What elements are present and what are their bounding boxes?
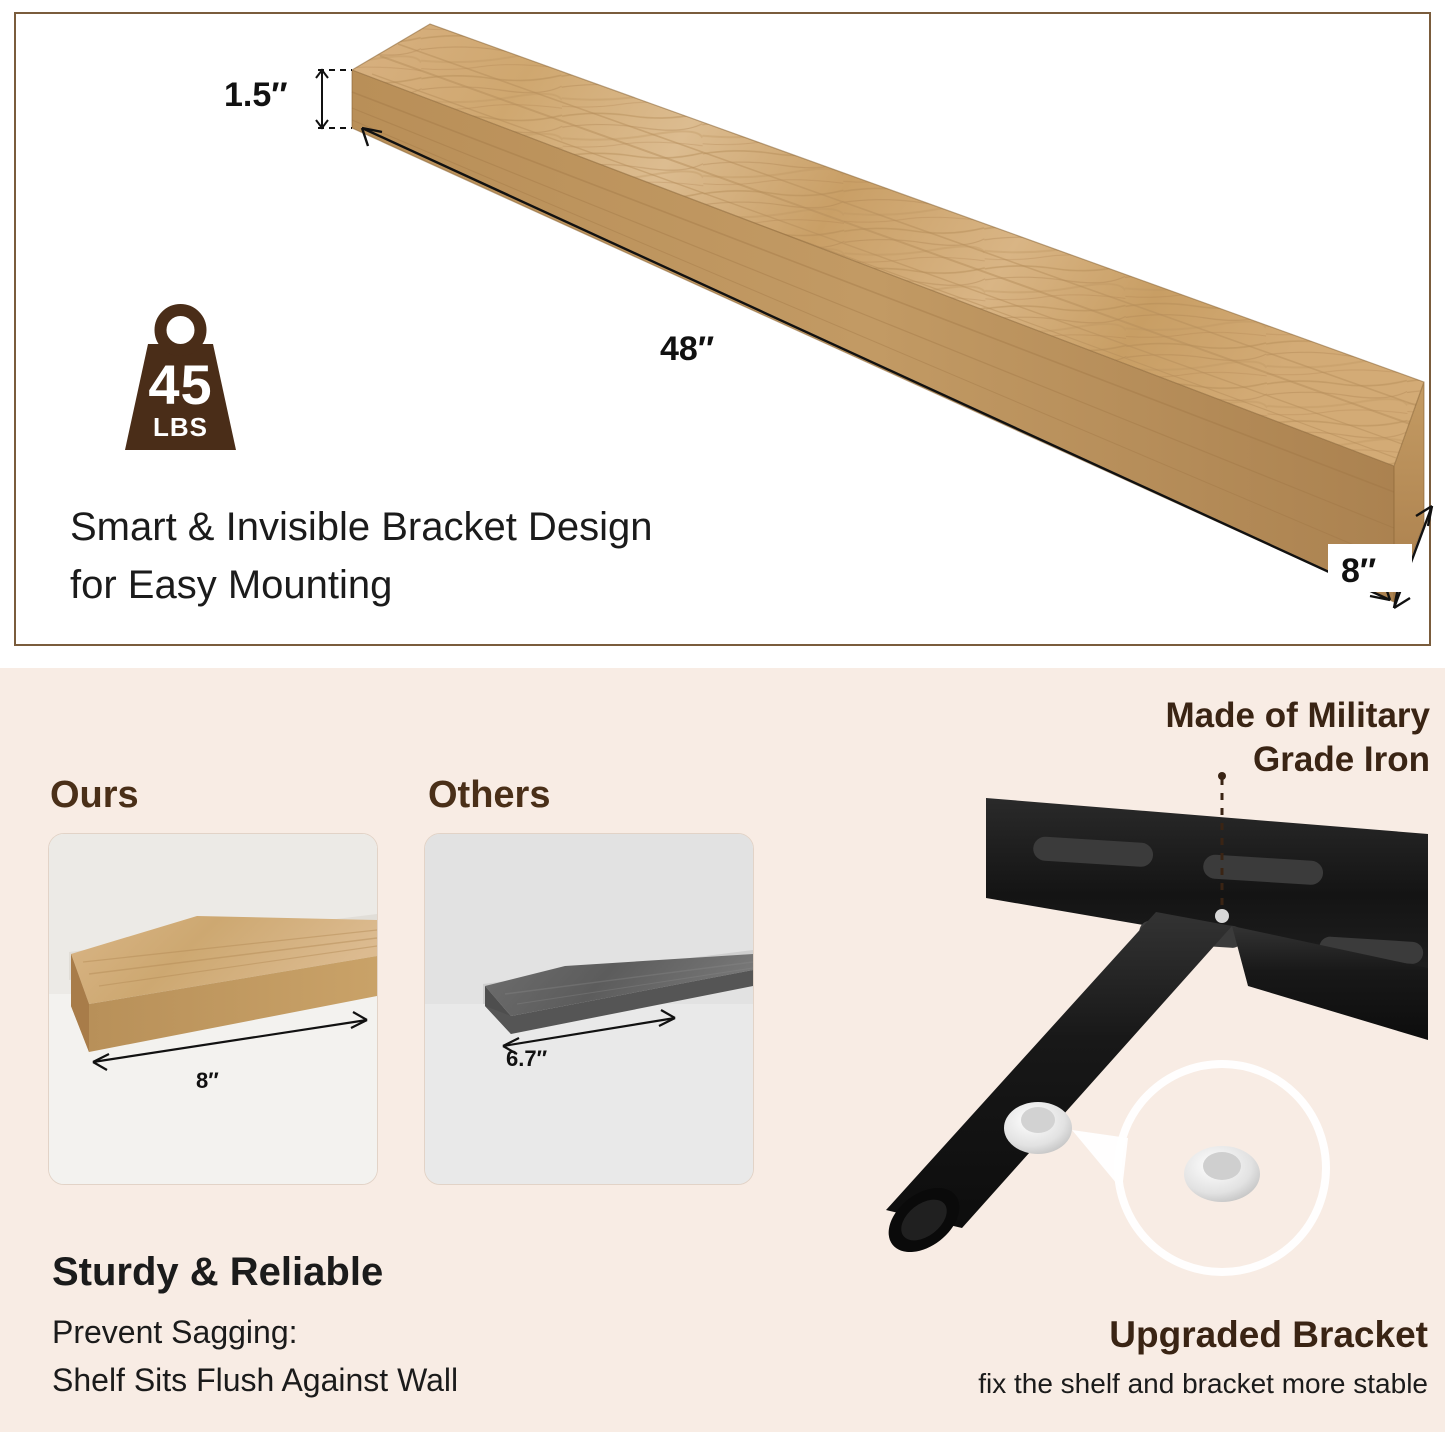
dimension-thickness: 1.5″ [224, 76, 288, 115]
dimension-depth: 8″ [1341, 552, 1376, 591]
weight-value: 45 [108, 352, 253, 417]
top-headline-line2: for Easy Mounting [70, 556, 890, 614]
top-panel: 1.5″ 48″ 8″ 45 LBS Smart & Invisible Bra… [0, 0, 1445, 660]
bottom-panel: Ours Others [0, 668, 1445, 1432]
military-label-line1: Made of Military [1010, 694, 1430, 738]
dimension-length: 48″ [660, 330, 714, 369]
upgraded-bracket-subtext: fix the shelf and bracket more stable [760, 1368, 1428, 1400]
top-headline-line1: Smart & Invisible Bracket Design [70, 498, 890, 556]
screw-head-right [1184, 1146, 1260, 1202]
weight-capacity-badge: 45 LBS [108, 300, 253, 455]
military-grade-label: Made of Military Grade Iron [1010, 694, 1430, 782]
weight-unit: LBS [108, 412, 253, 443]
upgraded-bracket-label: Upgraded Bracket [760, 1314, 1428, 1356]
military-label-line2: Grade Iron [1010, 738, 1430, 782]
screw-head-left [1004, 1102, 1072, 1154]
top-headline: Smart & Invisible Bracket Design for Eas… [70, 498, 890, 614]
